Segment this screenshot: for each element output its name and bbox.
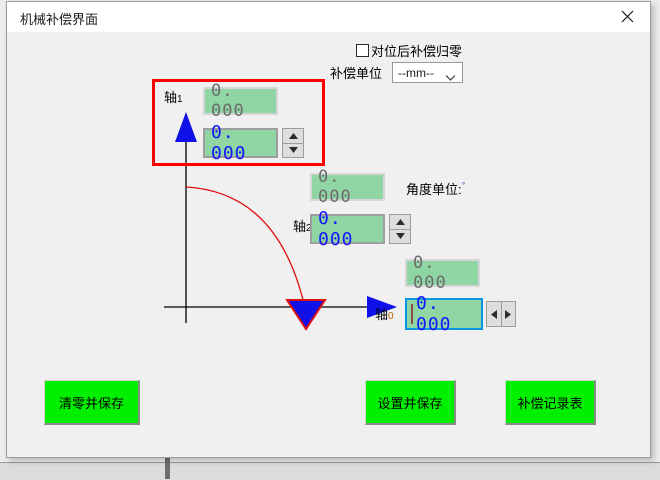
axis0-target-value: 0. 000: [416, 293, 481, 335]
compensation-unit-label: 补偿单位: [330, 63, 382, 82]
compensation-unit-select[interactable]: --mm--: [392, 62, 463, 83]
axis0-label: 轴0: [375, 304, 394, 323]
set-and-save-button[interactable]: 设置并保存: [365, 380, 456, 425]
window-client-area: 对位后补偿归零 补偿单位 --mm--: [7, 32, 650, 457]
compensation-unit-row: 补偿单位 --mm--: [330, 62, 463, 83]
title-bar: 机械补偿界面: [7, 2, 650, 32]
desktop-background: [0, 463, 660, 480]
axis2-spinner-up[interactable]: [390, 215, 410, 230]
axis2-spinner-down[interactable]: [390, 230, 410, 244]
compensation-window: 机械补偿界面 对位后补偿归零 补偿单位 --m: [6, 1, 651, 458]
desktop-taskbar-mark: [165, 458, 170, 479]
close-icon: [621, 10, 634, 23]
close-button[interactable]: [605, 2, 650, 31]
axis1-spinner-down[interactable]: [283, 144, 303, 158]
angle-unit-label: 角度单位:°: [406, 179, 465, 198]
desktop-divider: [0, 462, 660, 463]
axis2-label: 轴2: [293, 216, 312, 235]
axis0-spinner[interactable]: [486, 301, 516, 327]
compensation-record-table-button[interactable]: 补偿记录表: [505, 380, 596, 425]
screen: 机械补偿界面 对位后补偿归零 补偿单位 --m: [0, 0, 660, 480]
chevron-down-icon: [445, 69, 456, 87]
axis2-spinner[interactable]: [389, 214, 411, 244]
zero-after-align-label: 对位后补偿归零: [371, 41, 462, 60]
axis2-target-input[interactable]: 0. 000: [310, 214, 385, 244]
axis1-label: 轴1: [164, 87, 183, 106]
axis1-target-input[interactable]: 0. 000: [203, 128, 278, 158]
axis0-target-input[interactable]: 0. 000: [405, 298, 483, 330]
compensation-unit-value: --mm--: [398, 66, 434, 80]
axis1-current-value: 0. 000: [203, 87, 278, 115]
axis0-spinner-left[interactable]: [487, 302, 502, 326]
axis1-spinner-up[interactable]: [283, 129, 303, 144]
clear-and-save-button[interactable]: 清零并保存: [44, 380, 140, 425]
zero-after-align-checkbox[interactable]: [356, 44, 369, 57]
zero-after-align-row[interactable]: 对位后补偿归零: [356, 41, 462, 60]
window-title: 机械补偿界面: [20, 9, 98, 28]
axis1-spinner[interactable]: [282, 128, 304, 158]
axis0-current-value: 0. 000: [405, 259, 480, 287]
axis2-current-value: 0. 000: [310, 173, 385, 201]
text-caret: [411, 304, 413, 324]
axis0-spinner-right[interactable]: [502, 302, 516, 326]
